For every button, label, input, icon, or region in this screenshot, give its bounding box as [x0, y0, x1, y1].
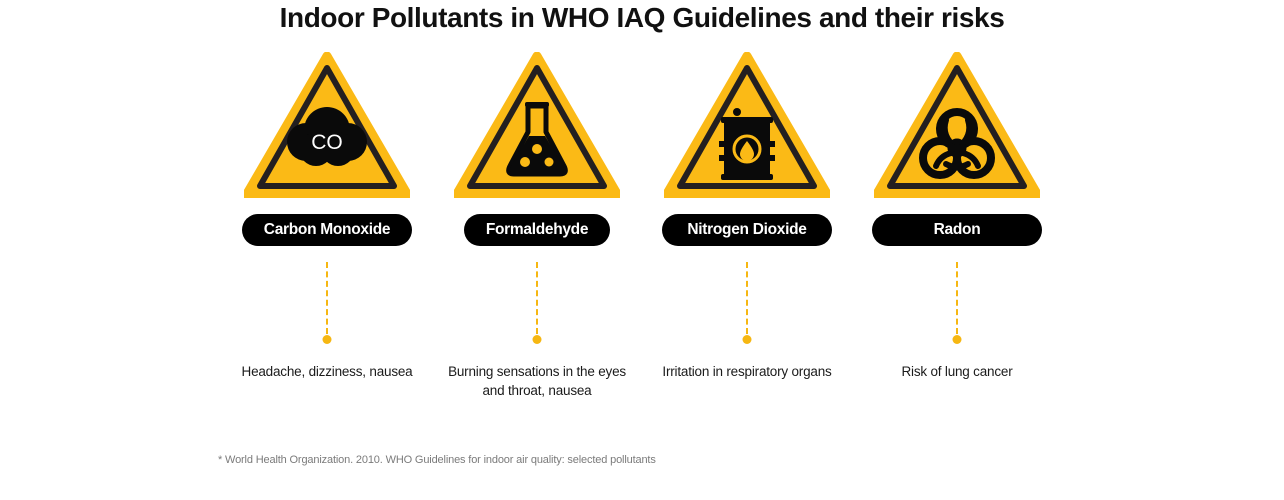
warning-sign-nitrogen-dioxide [664, 52, 830, 198]
connector-dot [953, 335, 962, 344]
infographic-root: Indoor Pollutants in WHO IAQ Guidelines … [0, 0, 1284, 500]
risk-text-radon: Risk of lung cancer [862, 362, 1052, 381]
connector-radon [951, 262, 963, 344]
dashed-line [326, 262, 328, 334]
pollutant-column-radon: Radon Risk of lung cancer [852, 52, 1062, 381]
risk-text-carbon-monoxide: Headache, dizziness, nausea [232, 362, 422, 381]
source-footnote: * World Health Organization. 2010. WHO G… [218, 454, 656, 466]
connector-formaldehyde [531, 262, 543, 344]
warning-sign-carbon-monoxide: CO [244, 52, 410, 198]
pollutant-column-carbon-monoxide: CO Carbon Monoxide Headache, dizziness, … [222, 52, 432, 381]
connector-dot [743, 335, 752, 344]
connector-dot [533, 335, 542, 344]
pollutant-label-carbon-monoxide[interactable]: Carbon Monoxide [242, 214, 412, 246]
co-label-text: CO [311, 131, 343, 154]
dashed-line [536, 262, 538, 334]
dashed-line [956, 262, 958, 334]
page-title: Indoor Pollutants in WHO IAQ Guidelines … [0, 2, 1284, 34]
pollutant-column-nitrogen-dioxide: Nitrogen Dioxide Irritation in respirato… [642, 52, 852, 381]
pollutant-column-formaldehyde: Formaldehyde Burning sensations in the e… [432, 52, 642, 400]
chemical-barrel-icon [719, 108, 775, 180]
warning-sign-radon [874, 52, 1040, 198]
risk-text-formaldehyde: Burning sensations in the eyes and throa… [442, 362, 632, 400]
pollutant-label-radon[interactable]: Radon [872, 214, 1042, 246]
dashed-line [746, 262, 748, 334]
connector-nitrogen-dioxide [741, 262, 753, 344]
connector-dot [323, 335, 332, 344]
warning-sign-formaldehyde [454, 52, 620, 198]
risk-text-nitrogen-dioxide: Irritation in respiratory organs [652, 362, 842, 381]
pollutant-label-nitrogen-dioxide[interactable]: Nitrogen Dioxide [662, 214, 832, 246]
pollutant-label-formaldehyde[interactable]: Formaldehyde [464, 214, 610, 246]
pollutant-columns: CO Carbon Monoxide Headache, dizziness, … [222, 52, 1062, 412]
connector-carbon-monoxide [321, 262, 333, 344]
